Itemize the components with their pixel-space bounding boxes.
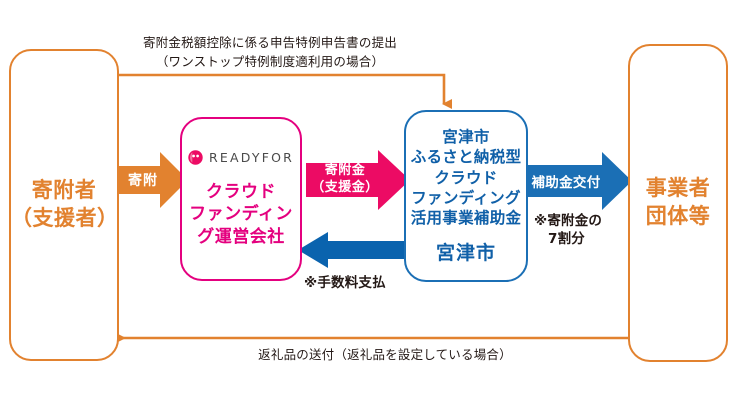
arrow-donation-label: 寄附 [128, 170, 158, 190]
readyfor-logo-icon [188, 150, 203, 165]
arrow-fee-payback [298, 230, 420, 270]
box-platform: READYFOR クラウド ファンディン グ運営会社 [180, 117, 302, 281]
arrow-donation-money-label-line1: 寄附金 [325, 163, 366, 180]
box-donor-label-line2: （支援者） [11, 205, 117, 233]
box-platform-label-line2: ファンディン [189, 203, 293, 226]
box-platform-label-line1: クラウド [206, 181, 276, 204]
arrow-fee-payback-shape [298, 232, 420, 268]
arrow-donation-money-label-wrap: 寄附金 （支援金） [306, 150, 384, 210]
note-subsidy-ratio-line1: ※寄附金の [534, 212, 630, 230]
declaration-label: 寄附金税額控除に係る申告特例申告書の提出 （ワンストップ特例制度適利用の場合） [120, 33, 420, 72]
declaration-label-line2: （ワンストップ特例制度適利用の場合） [120, 52, 420, 71]
box-city-name: 宮津市 [436, 242, 496, 265]
box-city-label-line2: ふるさと納税型 [411, 147, 522, 167]
arrow-donation-label-wrap: 寄附 [112, 152, 174, 208]
return-gift-label: 返礼品の送付（返礼品を設定している場合） [240, 345, 530, 364]
box-city-label-line5: 活用事業補助金 [411, 208, 522, 228]
arrow-donation-money-label-line2: （支援金） [311, 180, 379, 197]
box-donor: 寄附者 （支援者） [9, 49, 119, 361]
box-platform-label-line3: グ運営会社 [197, 226, 285, 249]
box-business-label-line2: 団体等 [646, 203, 711, 231]
declaration-label-line1: 寄附金税額控除に係る申告特例申告書の提出 [120, 33, 420, 52]
note-subsidy-ratio: ※寄附金の 7割分 [534, 212, 630, 248]
box-donor-label-line1: 寄附者 [32, 177, 97, 205]
box-business-label-line1: 事業者 [646, 175, 711, 203]
diagram-canvas: 寄附 寄附金 （支援金） 補助金交付 寄附者 （支援者） READYFOR [0, 0, 736, 414]
declaration-connector-path [113, 75, 444, 104]
box-city-label-line1: 宮津市 [442, 127, 489, 147]
box-business: 事業者 団体等 [628, 44, 728, 362]
note-subsidy-ratio-line2: 7割分 [534, 230, 630, 248]
box-city: 宮津市 ふるさと納税型 クラウド ファンディング 活用事業補助金 宮津市 [404, 110, 528, 282]
box-city-label-line3: クラウド [434, 168, 497, 188]
arrow-subsidy-label-wrap: 補助金交付 [526, 152, 606, 210]
arrow-subsidy-label: 補助金交付 [532, 171, 601, 191]
note-fee: ※手数料支払 [304, 274, 386, 292]
readyfor-logo-text: READYFOR [209, 150, 294, 165]
readyfor-logo: READYFOR [188, 150, 294, 165]
box-city-label-line4: ファンディング [411, 188, 521, 208]
